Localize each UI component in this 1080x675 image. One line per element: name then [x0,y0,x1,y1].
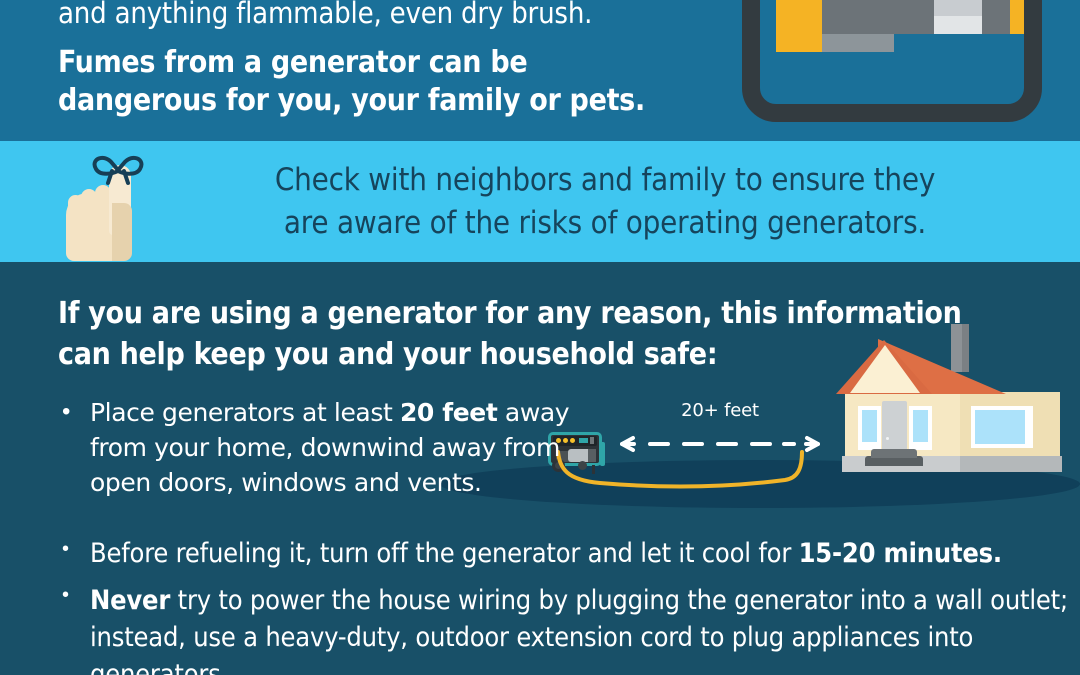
reminder-line-2: are aware of the risks of operating gene… [200,202,1010,245]
steps-icon [871,449,917,458]
bullet-marker: • [62,536,90,572]
window-icon [909,406,932,450]
finger-with-string-icon [62,151,148,261]
window-icon [971,406,1033,448]
bullet-marker: • [62,395,90,500]
top-text-line-1: and anything flammable, even dry brush. [58,0,738,32]
bullet-distance-text: Place generators at least 20 feet away f… [90,395,622,500]
headline-line-1: If you are using a generator for any rea… [58,293,1018,334]
generator-illustration [742,0,1042,122]
bullet-marker: • [62,582,90,675]
top-text-line-3: dangerous for you, your family or pets. [58,82,738,120]
top-warning-section: and anything flammable, even dry brush. … [0,0,1080,141]
double-headed-dashed-arrow-icon [620,432,820,456]
generator-engine-body [760,0,1024,52]
window-icon [858,406,881,450]
reminder-band: Check with neighbors and family to ensur… [0,141,1080,262]
generator-safety-section: If you are using a generator for any rea… [0,262,1080,675]
bullet-refueling-text: Before refueling it, turn off the genera… [90,536,1072,572]
reminder-line-1: Check with neighbors and family to ensur… [200,159,1010,202]
bullet-never-backfeed-text: Never try to power the house wiring by p… [90,582,1072,675]
distance-label: 20+ feet [620,400,820,421]
list-item: • Never try to power the house wiring by… [62,582,1072,675]
infographic-page: and anything flammable, even dry brush. … [0,0,1080,675]
reminder-text: Check with neighbors and family to ensur… [200,159,1010,245]
list-item: • Before refueling it, turn off the gene… [62,536,1072,572]
house-icon [820,332,1070,490]
top-warning-text: and anything flammable, even dry brush. … [58,0,738,120]
top-text-line-2: Fumes from a generator can be [58,44,738,82]
list-item: • Place generators at least 20 feet away… [62,395,622,500]
